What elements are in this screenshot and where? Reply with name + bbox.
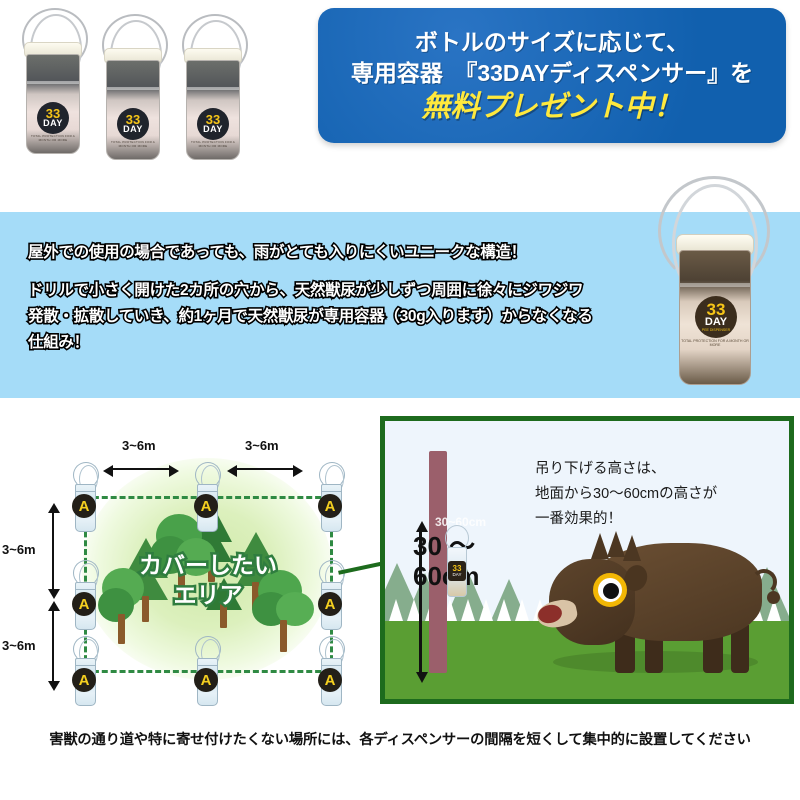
product-bottle: 33 DAY TOTAL PROTECTION FOR A MONTH OR M… xyxy=(178,18,250,168)
dispenser-badge: A xyxy=(72,592,96,616)
mounted-dispenser: 33 DAY xyxy=(441,525,471,607)
footer-caption: 害獣の通り道や特に寄せ付けたくない場所には、各ディスペンサーの間隔を短くして集中… xyxy=(0,728,800,749)
dispenser-badge: A xyxy=(194,494,218,518)
brand-number: 33 xyxy=(707,302,726,317)
bottle-label: 33 DAY TOTAL PROTECTION FOR A MONTH OR M… xyxy=(107,106,159,146)
brand-fine-print: TOTAL PROTECTION FOR A MONTH OR MORE xyxy=(681,339,749,347)
spacing-arrow-top-left xyxy=(112,468,170,470)
brand-fine-print: TOTAL PROTECTION FOR A MONTH OR MORE xyxy=(107,140,159,148)
dispenser-marker: A xyxy=(68,636,102,708)
brand-word: DAY xyxy=(705,317,727,328)
brand-word: DAY xyxy=(43,119,63,128)
dispenser-marker: A xyxy=(190,462,224,534)
boar-mane xyxy=(623,535,641,561)
bottle-label: 33 DAY PEE DISPENSER TOTAL PROTECTION FO… xyxy=(681,294,749,350)
coverage-area-label: カバーしたい エリア xyxy=(118,550,298,610)
dispenser-badge: A xyxy=(318,668,342,692)
product-bottle: 33 DAY TOTAL PROTECTION FOR A MONTH OR M… xyxy=(98,18,170,168)
dispenser-badge: A xyxy=(194,668,218,692)
spacing-arrow-left-upper xyxy=(52,512,54,590)
brand-badge: 33 DAY xyxy=(197,108,229,140)
info-text-block: 屋外での使用の場合であっても、雨がとても入りにくいユニークな構造！ ドリルで小さ… xyxy=(28,240,618,356)
dispenser-marker: A xyxy=(68,462,102,534)
product-bottle-group: 33 DAY TOTAL PROTECTION FOR A MONTH OR M… xyxy=(6,4,286,164)
brand-fine-print: TOTAL PROTECTION FOR A MONTH OR MORE xyxy=(187,140,239,148)
brand-fine-print: TOTAL PROTECTION FOR A MONTH OR MORE xyxy=(27,134,79,142)
hanging-height-panel: 吊り下げる高さは、 地面から30〜60cmの高さが 一番効果的！ 30~60cm… xyxy=(380,416,794,704)
dispenser-badge: A xyxy=(72,668,96,692)
product-bottle: 33 DAY TOTAL PROTECTION FOR A MONTH OR M… xyxy=(18,12,90,162)
brand-sub: PEE DISPENSER xyxy=(702,328,730,333)
info-line-2: ドリルで小さく開けた2カ所の穴から、天然獣尿が少しずつ周囲に徐々にジワジワ xyxy=(28,278,618,304)
promo-line-2: 専用容器 『33DAYディスペンサー』を xyxy=(351,58,753,89)
wild-boar-illustration xyxy=(545,529,775,677)
info-line-3: 発散・拡散していき、約1ヶ月で天然獣尿が専用容器（30g入ります）からなくなる xyxy=(28,304,618,330)
spacing-label-left-lower: 3~6m xyxy=(2,638,36,653)
spacing-arrow-left-lower xyxy=(52,610,54,682)
dispenser-badge: A xyxy=(318,494,342,518)
brand-word: DAY xyxy=(453,572,462,577)
dispenser-label: 33 DAY xyxy=(448,561,466,581)
bottle-label: 33 DAY TOTAL PROTECTION FOR A MONTH OR M… xyxy=(187,106,239,146)
spacing-arrow-top-right xyxy=(236,468,294,470)
spacing-label-left-upper: 3~6m xyxy=(2,542,36,557)
boar-tail-tip xyxy=(767,591,780,604)
promo-line-3: 無料プレゼント中！ xyxy=(421,89,682,125)
featured-product-bottle: 33 DAY PEE DISPENSER TOTAL PROTECTION FO… xyxy=(652,176,782,391)
dispenser-marker: A xyxy=(68,560,102,632)
info-line-1: 屋外での使用の場合であっても、雨がとても入りにくいユニークな構造！ xyxy=(28,240,618,266)
info-line-4: 仕組み！ xyxy=(28,330,618,356)
promo-banner: ボトルのサイズに応じて、 専用容器 『33DAYディスペンサー』を 無料プレゼン… xyxy=(318,8,786,143)
brand-badge: 33 DAY xyxy=(37,102,69,134)
spacing-label-top-right: 3~6m xyxy=(245,438,279,453)
dispenser-badge: A xyxy=(72,494,96,518)
brand-badge: 33 DAY PEE DISPENSER xyxy=(695,296,737,338)
hanging-height-caption: 吊り下げる高さは、 地面から30〜60cmの高さが 一番効果的！ xyxy=(535,457,717,532)
dispenser-marker: A xyxy=(314,462,348,534)
lower-section: A A A A xyxy=(0,398,800,800)
caption-line-2: 地面から30〜60cmの高さが xyxy=(535,482,717,507)
coverage-grid-diagram: A A A A xyxy=(0,420,372,720)
infographic-page: 33 DAY TOTAL PROTECTION FOR A MONTH OR M… xyxy=(0,0,800,800)
dispenser-marker: A xyxy=(314,636,348,708)
promo-line-1: ボトルのサイズに応じて、 xyxy=(415,27,689,58)
brand-badge: 33 DAY xyxy=(117,108,149,140)
info-spacer xyxy=(28,266,618,278)
brand-number: 33 xyxy=(453,565,462,572)
coverage-area-line-2: エリア xyxy=(174,582,243,608)
dispenser-badge: A xyxy=(318,592,342,616)
spacing-label-top-left: 3~6m xyxy=(122,438,156,453)
brand-word: DAY xyxy=(123,125,143,134)
dispenser-marker: A xyxy=(190,636,224,708)
bottle-label: 33 DAY TOTAL PROTECTION FOR A MONTH OR M… xyxy=(27,100,79,140)
coverage-area-line-1: カバーしたい xyxy=(139,552,277,578)
brand-word: DAY xyxy=(203,125,223,134)
caption-line-1: 吊り下げる高さは、 xyxy=(535,457,717,482)
boar-pupil xyxy=(603,583,619,599)
